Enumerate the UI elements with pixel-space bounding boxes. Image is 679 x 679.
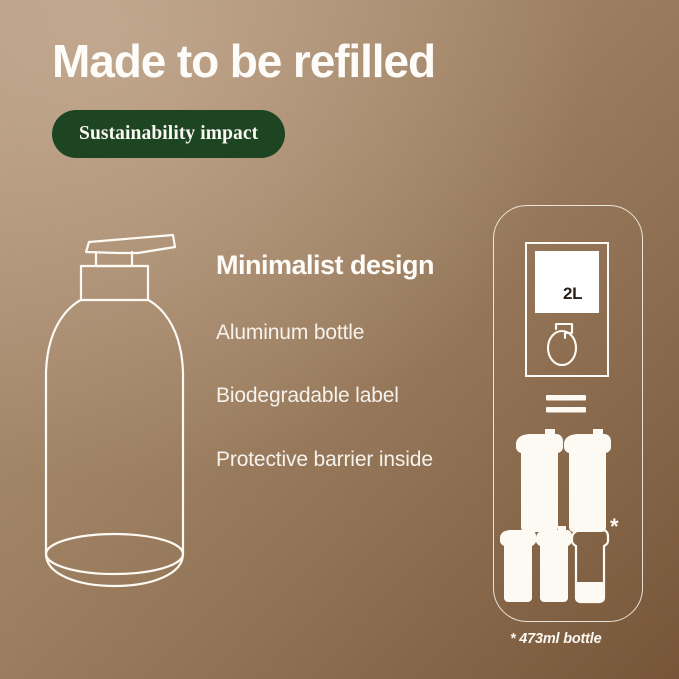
large-bottle-1 [516, 429, 563, 532]
small-bottle-2 [536, 526, 572, 602]
small-bottle-3-fill [576, 582, 605, 601]
feature-item-protective-barrier: Protective barrier inside [216, 447, 446, 473]
pump-bottle-outline-icon [36, 222, 211, 597]
poster-canvas: Made to be refilled Sustainability impac… [0, 0, 679, 679]
feature-item-aluminum-bottle: Aluminum bottle [216, 320, 446, 346]
status-badge-label: Sustainability impact [79, 123, 258, 145]
large-bottle-2 [564, 429, 611, 532]
footnote-text: * 473ml bottle [510, 631, 601, 647]
refill-carton-volume-label: 2L [563, 284, 582, 304]
small-bottle-1 [500, 526, 536, 602]
refill-pouch-icon [548, 324, 576, 365]
large-bottle-group [516, 429, 611, 532]
asterisk-marker: * [610, 516, 619, 538]
status-badge: Sustainability impact [52, 110, 285, 158]
feature-item-biodegradable-label: Biodegradable label [216, 383, 446, 409]
equals-sign-icon [546, 395, 586, 413]
feature-list: Minimalist design Aluminum bottle Biodeg… [216, 250, 446, 473]
refill-diagram [493, 205, 641, 620]
small-bottle-group [500, 526, 608, 602]
page-title: Made to be refilled [52, 38, 435, 85]
feature-heading: Minimalist design [216, 250, 446, 282]
